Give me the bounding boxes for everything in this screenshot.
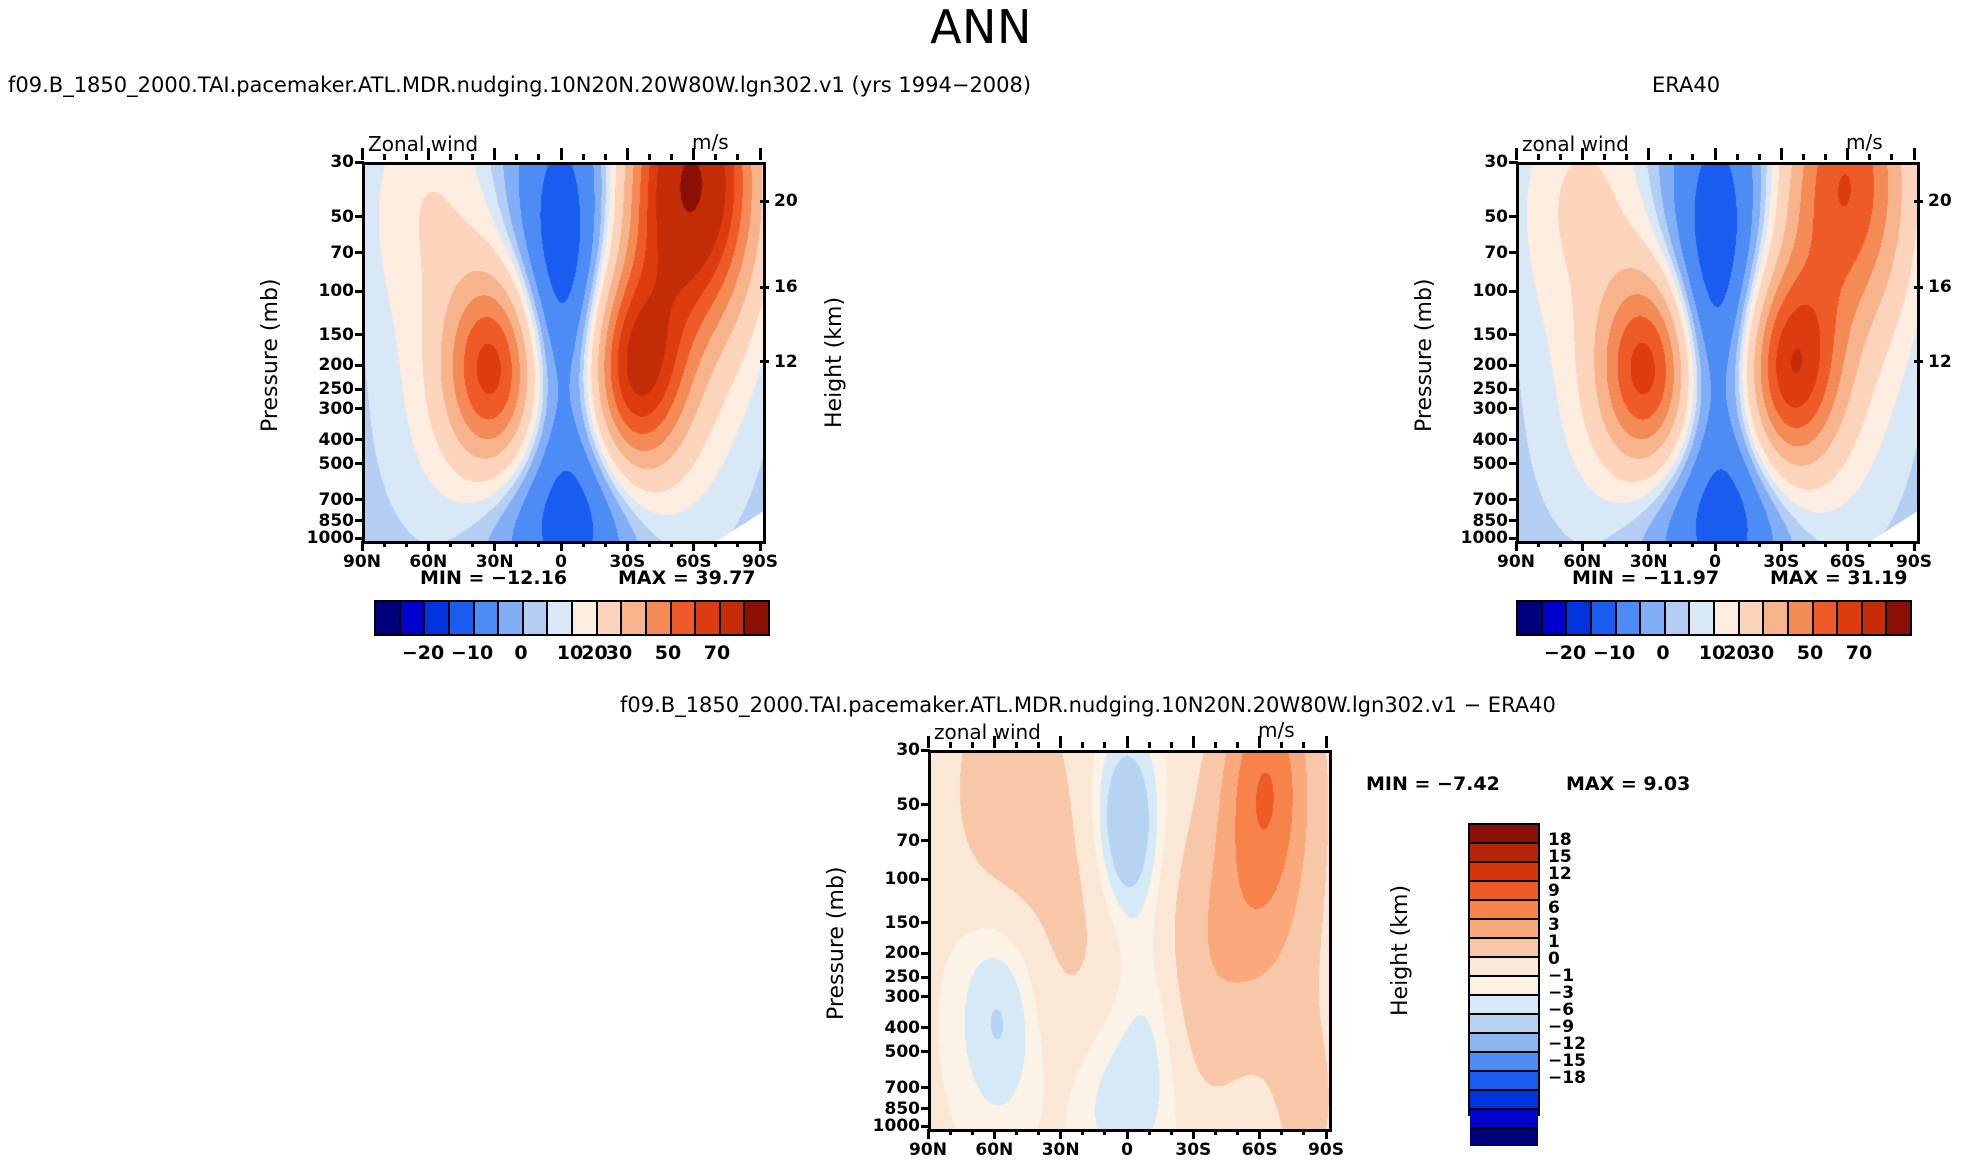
plot-model-variable-label: Zonal wind xyxy=(368,132,478,156)
tickmark-pressure xyxy=(355,161,364,164)
tickmark-pressure xyxy=(355,498,364,501)
xtick-latitude: 30N xyxy=(1027,1140,1095,1160)
colorbar-model-labels: −20−1001020305070 xyxy=(374,642,766,668)
ytick-pressure: 100 xyxy=(298,281,354,301)
tickmark-bottom-axis xyxy=(927,1129,930,1139)
tickmark-bottom-axis xyxy=(582,541,585,547)
tickmark-pressure xyxy=(921,1026,930,1029)
colorbar-swatch xyxy=(376,602,401,634)
ytick-pressure: 400 xyxy=(298,430,354,450)
tickmark-pressure xyxy=(1509,407,1518,410)
tickmark-top-axis xyxy=(1126,736,1129,748)
tickmark-top-axis xyxy=(1192,736,1195,748)
tickmark-top-axis xyxy=(1559,154,1562,160)
tickmark-pressure xyxy=(921,1050,930,1053)
tickmark-top-axis xyxy=(1258,736,1261,748)
colorbar-swatch xyxy=(598,602,623,634)
tickmark-pressure xyxy=(355,364,364,367)
colorbar-swatch xyxy=(1764,602,1789,634)
tickmark-top-axis xyxy=(361,148,364,160)
colorbar-swatch xyxy=(745,602,768,634)
tickmark-top-axis xyxy=(1103,742,1106,748)
tickmark-top-axis xyxy=(1736,154,1739,160)
tickmark-bottom-axis xyxy=(1647,541,1650,551)
tickmark-bottom-axis xyxy=(1714,541,1717,551)
tickmark-bottom-axis xyxy=(515,541,518,547)
tickmark-top-axis xyxy=(1280,742,1283,748)
tickmark-height xyxy=(1914,286,1923,289)
colorbar-swatch xyxy=(1470,977,1538,996)
tickmark-pressure xyxy=(1509,438,1518,441)
tickmark-top-axis xyxy=(1868,154,1871,160)
colorbar-swatch xyxy=(721,602,746,634)
tickmark-height xyxy=(760,200,769,203)
colorbar-tick-label: −20 xyxy=(1544,642,1586,664)
tickmark-top-axis xyxy=(1170,742,1173,748)
ytick-height: 16 xyxy=(774,277,798,297)
ytick-pressure: 30 xyxy=(1452,152,1508,172)
ytick-pressure: 70 xyxy=(1452,243,1508,263)
tickmark-top-axis xyxy=(1691,154,1694,160)
tickmark-pressure xyxy=(1509,364,1518,367)
tickmark-top-axis xyxy=(1148,742,1151,748)
plot-diff-y-axis-label: Pressure (mb) xyxy=(824,867,849,1021)
ytick-pressure: 700 xyxy=(298,490,354,510)
plot-model[interactable] xyxy=(362,162,766,544)
colorbar-swatch xyxy=(1740,602,1765,634)
tickmark-height xyxy=(1914,360,1923,363)
tickmark-bottom-axis xyxy=(1015,1129,1018,1135)
tickmark-bottom-axis xyxy=(449,541,452,547)
tickmark-top-axis xyxy=(1059,736,1062,748)
tickmark-top-axis xyxy=(1913,148,1916,160)
colorbar-tick-label: 20 xyxy=(1723,642,1749,664)
xtick-latitude: 90S xyxy=(1292,1140,1360,1160)
tickmark-bottom-axis xyxy=(736,541,739,547)
colorbar-tick-label: 30 xyxy=(606,642,632,664)
colorbar-swatch xyxy=(1838,602,1863,634)
tickmark-top-axis xyxy=(493,148,496,160)
ytick-pressure: 30 xyxy=(864,740,920,760)
plot-obs-y-axis-label: Pressure (mb) xyxy=(1412,279,1437,433)
tickmark-bottom-axis xyxy=(1192,1129,1195,1139)
tickmark-bottom-axis xyxy=(1236,1129,1239,1135)
tickmark-bottom-axis xyxy=(1280,1129,1283,1135)
colorbar-swatch xyxy=(1470,1072,1538,1091)
tickmark-pressure xyxy=(921,803,930,806)
tickmark-top-axis xyxy=(449,154,452,160)
xtick-latitude: 90N xyxy=(1482,552,1550,572)
tickmark-bottom-axis xyxy=(604,541,607,547)
colorbar-swatch xyxy=(475,602,500,634)
tickmark-top-axis xyxy=(1537,154,1540,160)
tickmark-top-axis xyxy=(1890,154,1893,160)
colorbar-model xyxy=(374,600,770,636)
tickmark-height xyxy=(760,286,769,289)
tickmark-top-axis xyxy=(1669,154,1672,160)
tickmark-top-axis xyxy=(515,154,518,160)
plot-obs[interactable] xyxy=(1516,162,1920,544)
ytick-pressure: 150 xyxy=(864,913,920,933)
colorbar-swatch xyxy=(1470,1034,1538,1053)
colorbar-swatch xyxy=(1814,602,1839,634)
colorbar-swatch xyxy=(1470,958,1538,977)
colorbar-diff-labels: 18151296310−1−3−6−9−12−15−18 xyxy=(1548,823,1618,1112)
ytick-height: 12 xyxy=(1928,352,1952,372)
tickmark-bottom-axis xyxy=(1913,541,1916,551)
ytick-pressure: 300 xyxy=(1452,399,1508,419)
colorbar-swatch xyxy=(647,602,672,634)
tickmark-top-axis xyxy=(582,154,585,160)
colorbar-swatch xyxy=(1470,920,1538,939)
tickmark-bottom-axis xyxy=(648,541,651,547)
colorbar-swatch xyxy=(499,602,524,634)
tickmark-bottom-axis xyxy=(1846,541,1849,551)
ytick-pressure: 500 xyxy=(864,1042,920,1062)
plot-obs-variable-label: zonal wind xyxy=(1522,132,1629,156)
tickmark-bottom-axis xyxy=(405,541,408,547)
ytick-pressure: 1000 xyxy=(864,1116,920,1136)
ytick-pressure: 1000 xyxy=(298,528,354,548)
tickmark-bottom-axis xyxy=(1669,541,1672,547)
tickmark-bottom-axis xyxy=(1170,1129,1173,1135)
tickmark-bottom-axis xyxy=(560,541,563,551)
colorbar-swatch xyxy=(1470,863,1538,882)
colorbar-swatch xyxy=(1567,602,1592,634)
tickmark-top-axis xyxy=(648,154,651,160)
colorbar-swatch xyxy=(1617,602,1642,634)
ytick-pressure: 200 xyxy=(298,355,354,375)
tickmark-pressure xyxy=(355,462,364,465)
ytick-height: 20 xyxy=(774,191,798,211)
tickmark-top-axis xyxy=(537,154,540,160)
ytick-pressure: 300 xyxy=(298,399,354,419)
colorbar-tick-label: 70 xyxy=(704,642,730,664)
ytick-pressure: 70 xyxy=(864,831,920,851)
plot-diff-y2-axis-label: Height (km) xyxy=(1388,885,1413,1016)
tickmark-pressure xyxy=(355,251,364,254)
plot-diff[interactable] xyxy=(928,750,1332,1132)
tickmark-bottom-axis xyxy=(759,541,762,551)
tickmark-top-axis xyxy=(405,154,408,160)
tickmark-top-axis xyxy=(1625,154,1628,160)
tickmark-top-axis xyxy=(993,736,996,748)
colorbar-swatch xyxy=(1470,1110,1538,1129)
tickmark-bottom-axis xyxy=(361,541,364,551)
colorbar-swatch xyxy=(1592,602,1617,634)
tickmark-bottom-axis xyxy=(1736,541,1739,547)
ytick-pressure: 700 xyxy=(1452,490,1508,510)
tickmark-top-axis xyxy=(949,742,952,748)
tickmark-pressure xyxy=(921,749,930,752)
tickmark-top-axis xyxy=(971,742,974,748)
tickmark-pressure xyxy=(921,1086,930,1089)
ytick-pressure: 150 xyxy=(298,325,354,345)
ytick-pressure: 1000 xyxy=(1452,528,1508,548)
ytick-pressure: 30 xyxy=(298,152,354,172)
xtick-latitude: 90N xyxy=(894,1140,962,1160)
colorbar-swatch xyxy=(1543,602,1568,634)
ytick-pressure: 200 xyxy=(1452,355,1508,375)
colorbar-tick-label: 30 xyxy=(1748,642,1774,664)
tickmark-bottom-axis xyxy=(1214,1129,1217,1135)
tickmark-pressure xyxy=(1509,290,1518,293)
ytick-pressure: 50 xyxy=(864,795,920,815)
xtick-latitude: 60N xyxy=(960,1140,1028,1160)
xtick-latitude: 60N xyxy=(1548,552,1616,572)
colorbar-swatch xyxy=(548,602,573,634)
tickmark-pressure xyxy=(1509,215,1518,218)
colorbar-swatch xyxy=(1518,602,1543,634)
colorbar-swatch xyxy=(524,602,549,634)
tickmark-top-axis xyxy=(471,154,474,160)
colorbar-tick-label: −20 xyxy=(402,642,444,664)
colorbar-swatch xyxy=(1690,602,1715,634)
tickmark-top-axis xyxy=(714,154,717,160)
tickmark-bottom-axis xyxy=(1824,541,1827,547)
tickmark-bottom-axis xyxy=(383,541,386,547)
colorbar-obs-labels: −20−1001020305070 xyxy=(1516,642,1908,668)
colorbar-swatch xyxy=(1470,996,1538,1015)
xtick-latitude: 60N xyxy=(394,552,462,572)
colorbar-swatch xyxy=(1470,939,1538,958)
tickmark-bottom-axis xyxy=(1537,541,1540,547)
tickmark-top-axis xyxy=(670,154,673,160)
xtick-latitude: 0 xyxy=(1681,552,1749,572)
tickmark-bottom-axis xyxy=(537,541,540,547)
xtick-latitude: 30N xyxy=(461,552,529,572)
plot-diff-variable-label: zonal wind xyxy=(934,720,1041,744)
ytick-pressure: 500 xyxy=(1452,454,1508,474)
tickmark-bottom-axis xyxy=(1059,1129,1062,1139)
tickmark-bottom-axis xyxy=(714,541,717,547)
tickmark-top-axis xyxy=(1037,742,1040,748)
figure-title: ANN xyxy=(0,0,1962,54)
plot-model-y-axis-label: Pressure (mb) xyxy=(258,279,283,433)
colorbar-tick-label: −10 xyxy=(451,642,493,664)
colorbar-tick-label: 70 xyxy=(1846,642,1872,664)
tickmark-bottom-axis xyxy=(427,541,430,551)
plot-diff-max-value: MAX = 9.03 xyxy=(1566,773,1690,795)
xtick-latitude: 60S xyxy=(1814,552,1882,572)
plot-diff-units-label: m/s xyxy=(1258,718,1295,742)
tickmark-bottom-axis xyxy=(1148,1129,1151,1135)
ytick-pressure: 50 xyxy=(298,207,354,227)
tickmark-pressure xyxy=(1509,161,1518,164)
ytick-pressure: 400 xyxy=(864,1018,920,1038)
xtick-latitude: 60S xyxy=(660,552,728,572)
plot-obs-units-label: m/s xyxy=(1846,130,1883,154)
xtick-latitude: 30S xyxy=(1747,552,1815,572)
tickmark-top-axis xyxy=(1015,742,1018,748)
colorbar-tick-label: −18 xyxy=(1548,1068,1586,1088)
xtick-latitude: 0 xyxy=(527,552,595,572)
tickmark-top-axis xyxy=(1802,154,1805,160)
ytick-pressure: 250 xyxy=(298,379,354,399)
ytick-pressure: 500 xyxy=(298,454,354,474)
tickmark-top-axis xyxy=(626,148,629,160)
tickmark-top-axis xyxy=(604,154,607,160)
tickmark-top-axis xyxy=(759,148,762,160)
tickmark-top-axis xyxy=(1846,148,1849,160)
tickmark-bottom-axis xyxy=(670,541,673,547)
ytick-pressure: 50 xyxy=(1452,207,1508,227)
colorbar-swatch xyxy=(1641,602,1666,634)
ytick-pressure: 250 xyxy=(864,967,920,987)
plot-diff-canvas xyxy=(931,753,1329,1129)
tickmark-pressure xyxy=(355,290,364,293)
tickmark-pressure xyxy=(1509,498,1518,501)
tickmark-bottom-axis xyxy=(1780,541,1783,551)
ytick-pressure: 200 xyxy=(864,943,920,963)
ytick-pressure: 300 xyxy=(864,987,920,1007)
tickmark-pressure xyxy=(1509,251,1518,254)
tickmark-top-axis xyxy=(1758,154,1761,160)
tickmark-top-axis xyxy=(1714,148,1717,160)
xtick-latitude: 30S xyxy=(1159,1140,1227,1160)
tickmark-height xyxy=(760,360,769,363)
colorbar-swatch xyxy=(1715,602,1740,634)
ytick-pressure: 150 xyxy=(1452,325,1508,345)
tickmark-bottom-axis xyxy=(949,1129,952,1135)
tickmark-bottom-axis xyxy=(1302,1129,1305,1135)
tickmark-pressure xyxy=(921,976,930,979)
tickmark-pressure xyxy=(921,1125,930,1128)
colorbar-swatch xyxy=(401,602,426,634)
tickmark-top-axis xyxy=(1603,154,1606,160)
tickmark-bottom-axis xyxy=(1581,541,1584,551)
tickmark-top-axis xyxy=(560,148,563,160)
tickmark-top-axis xyxy=(1236,742,1239,748)
colorbar-swatch xyxy=(1789,602,1814,634)
ytick-height: 12 xyxy=(774,352,798,372)
xtick-latitude: 90S xyxy=(1880,552,1948,572)
tickmark-pressure xyxy=(1509,388,1518,391)
tickmark-bottom-axis xyxy=(1103,1129,1106,1135)
tickmark-top-axis xyxy=(1647,148,1650,160)
tickmark-bottom-axis xyxy=(1758,541,1761,547)
tickmark-pressure xyxy=(1509,333,1518,336)
tickmark-bottom-axis xyxy=(493,541,496,551)
tickmark-bottom-axis xyxy=(1515,541,1518,551)
plot-diff-min-value: MIN = −7.42 xyxy=(1366,773,1500,795)
tickmark-pressure xyxy=(1509,519,1518,522)
colorbar-tick-label: 0 xyxy=(1656,642,1669,664)
tickmark-pressure xyxy=(921,878,930,881)
tickmark-pressure xyxy=(921,921,930,924)
plot-obs-canvas xyxy=(1519,165,1917,541)
ytick-pressure: 100 xyxy=(1452,281,1508,301)
tickmark-pressure xyxy=(921,839,930,842)
tickmark-pressure xyxy=(1509,462,1518,465)
xtick-latitude: 30N xyxy=(1615,552,1683,572)
tickmark-top-axis xyxy=(1581,148,1584,160)
tickmark-bottom-axis xyxy=(1802,541,1805,547)
colorbar-tick-label: 0 xyxy=(514,642,527,664)
tickmark-bottom-axis xyxy=(1325,1129,1328,1139)
colorbar-swatch xyxy=(573,602,598,634)
tickmark-height xyxy=(1914,200,1923,203)
plot-model-canvas xyxy=(365,165,763,541)
tickmark-pressure xyxy=(355,519,364,522)
panel-title-obs: ERA40 xyxy=(1652,73,1720,97)
tickmark-top-axis xyxy=(927,736,930,748)
ytick-pressure: 700 xyxy=(864,1078,920,1098)
tickmark-top-axis xyxy=(1081,742,1084,748)
panel-title-diff: f09.B_1850_2000.TAI.pacemaker.ATL.MDR.nu… xyxy=(620,693,1556,717)
tickmark-bottom-axis xyxy=(1603,541,1606,547)
colorbar-swatch xyxy=(1470,901,1538,920)
tickmark-bottom-axis xyxy=(1126,1129,1129,1139)
tickmark-pressure xyxy=(355,438,364,441)
tickmark-bottom-axis xyxy=(1691,541,1694,547)
tickmark-top-axis xyxy=(736,154,739,160)
tickmark-pressure xyxy=(355,407,364,410)
tickmark-pressure xyxy=(355,537,364,540)
panel-title-model: f09.B_1850_2000.TAI.pacemaker.ATL.MDR.nu… xyxy=(8,73,1031,97)
colorbar-swatch xyxy=(1470,1015,1538,1034)
colorbar-swatch xyxy=(622,602,647,634)
tickmark-top-axis xyxy=(1824,154,1827,160)
tickmark-bottom-axis xyxy=(1868,541,1871,547)
tickmark-bottom-axis xyxy=(993,1129,996,1139)
tickmark-bottom-axis xyxy=(471,541,474,547)
ytick-pressure: 100 xyxy=(864,869,920,889)
tickmark-pressure xyxy=(355,215,364,218)
tickmark-pressure xyxy=(921,995,930,998)
tickmark-top-axis xyxy=(1325,736,1328,748)
colorbar-tick-label: 10 xyxy=(1699,642,1725,664)
tickmark-bottom-axis xyxy=(1081,1129,1084,1135)
tickmark-bottom-axis xyxy=(1559,541,1562,547)
tickmark-bottom-axis xyxy=(692,541,695,551)
tickmark-pressure xyxy=(921,1107,930,1110)
xtick-latitude: 90S xyxy=(726,552,794,572)
tickmark-pressure xyxy=(355,333,364,336)
tickmark-top-axis xyxy=(1302,742,1305,748)
xtick-latitude: 90N xyxy=(328,552,396,572)
tickmark-top-axis xyxy=(1515,148,1518,160)
tickmark-pressure xyxy=(1509,537,1518,540)
colorbar-swatch xyxy=(696,602,721,634)
colorbar-obs xyxy=(1516,600,1912,636)
tickmark-bottom-axis xyxy=(626,541,629,551)
ytick-height: 16 xyxy=(1928,277,1952,297)
colorbar-swatch xyxy=(1666,602,1691,634)
colorbar-swatch xyxy=(450,602,475,634)
colorbar-swatch xyxy=(1470,1091,1538,1110)
tickmark-top-axis xyxy=(1214,742,1217,748)
colorbar-swatch xyxy=(1470,882,1538,901)
tickmark-top-axis xyxy=(1780,148,1783,160)
tickmark-top-axis xyxy=(692,148,695,160)
tickmark-top-axis xyxy=(383,154,386,160)
plot-model-y2-axis-label: Height (km) xyxy=(822,297,847,428)
tickmark-bottom-axis xyxy=(971,1129,974,1135)
ytick-pressure: 70 xyxy=(298,243,354,263)
colorbar-tick-label: −10 xyxy=(1593,642,1635,664)
colorbar-diff xyxy=(1468,823,1540,1116)
colorbar-swatch xyxy=(425,602,450,634)
plot-model-units-label: m/s xyxy=(692,130,729,154)
tickmark-bottom-axis xyxy=(1258,1129,1261,1139)
tickmark-bottom-axis xyxy=(1890,541,1893,547)
colorbar-tick-label: 10 xyxy=(557,642,583,664)
colorbar-swatch xyxy=(1470,1053,1538,1072)
colorbar-swatch xyxy=(1470,825,1538,844)
colorbar-swatch xyxy=(1470,1129,1538,1146)
ytick-pressure: 250 xyxy=(1452,379,1508,399)
